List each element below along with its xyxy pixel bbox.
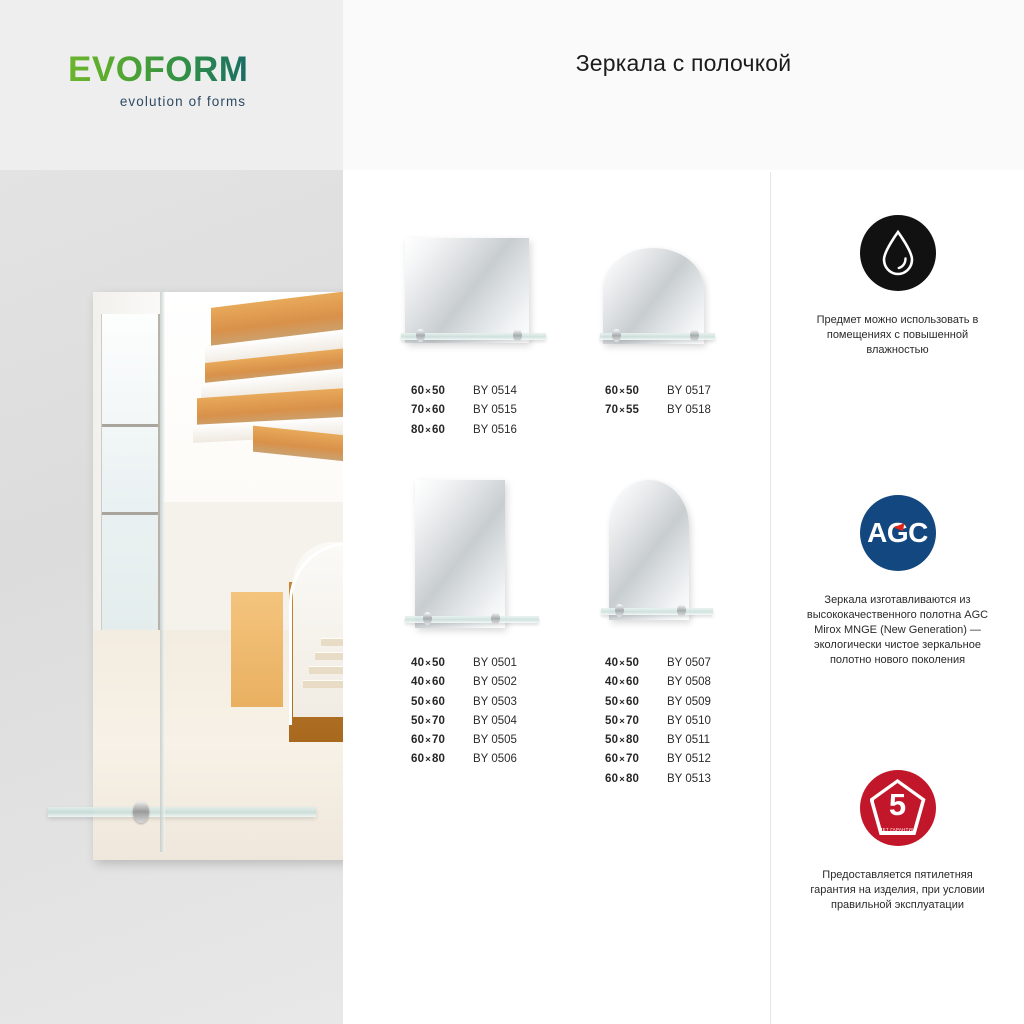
spec-row: 60×80 BY 0506 <box>411 750 517 769</box>
spec-code: BY 0510 <box>667 712 711 731</box>
shelf-bracket <box>491 612 500 625</box>
spec-size: 80×60 <box>411 421 473 440</box>
info-text-humidity: Предмет можно использовать в помещениях … <box>771 313 1024 358</box>
page-title: Зеркала с полочкой <box>343 0 1024 170</box>
spec-size: 60×50 <box>605 382 667 401</box>
spec-row: 50×70 BY 0510 <box>605 712 711 731</box>
spec-code: BY 0515 <box>473 401 517 420</box>
spec-size: 40×50 <box>411 654 473 673</box>
spec-code: BY 0509 <box>667 693 711 712</box>
brand-logo-wordmark: EVOFORM <box>68 52 298 87</box>
spec-size: 40×60 <box>605 673 667 692</box>
shelf-bracket <box>513 329 522 342</box>
spec-row: 50×60 BY 0509 <box>605 693 711 712</box>
product-mirror-arch-tall[interactable] <box>601 480 719 630</box>
spec-code: BY 0505 <box>473 731 517 750</box>
spec-row: 70×60 BY 0515 <box>411 401 517 420</box>
spec-row: 40×50 BY 0501 <box>411 654 517 673</box>
photo-window-mullion <box>102 424 158 427</box>
spec-row: 70×55 BY 0518 <box>605 401 711 420</box>
spec-code: BY 0508 <box>667 673 711 692</box>
product-mirror-rect-tall[interactable] <box>405 480 545 640</box>
spec-code: BY 0514 <box>473 382 517 401</box>
mirror-illustration <box>405 238 529 343</box>
info-block-humidity: Предмет можно использовать в помещениях … <box>771 215 1024 358</box>
spec-row: 80×60 BY 0516 <box>411 421 517 440</box>
product-mirror-rect-wide[interactable] <box>401 238 546 363</box>
agc-logo-text: AGC <box>867 517 928 549</box>
catalog-page: EVOFORM evolution of forms Зеркала с пол… <box>0 0 1024 1024</box>
spec-size: 50×80 <box>605 731 667 750</box>
spec-row: 60×50 BY 0514 <box>411 382 517 401</box>
spec-code: BY 0511 <box>667 731 710 750</box>
spec-size: 60×50 <box>411 382 473 401</box>
page-header: EVOFORM evolution of forms Зеркала с пол… <box>0 0 1024 170</box>
product-mirror-arch-wide[interactable] <box>600 248 715 363</box>
shelf-bracket <box>690 329 699 342</box>
spec-code: BY 0502 <box>473 673 517 692</box>
mirror-illustration <box>609 480 689 620</box>
spec-size: 50×60 <box>605 693 667 712</box>
spec-size: 60×80 <box>605 770 667 789</box>
shelf-bracket <box>416 329 425 342</box>
spec-row: 40×60 BY 0502 <box>411 673 517 692</box>
spec-row: 60×80 BY 0513 <box>605 770 711 789</box>
spec-size: 40×60 <box>411 673 473 692</box>
spec-code: BY 0518 <box>667 401 711 420</box>
spec-code: BY 0501 <box>473 654 517 673</box>
spec-row: 60×70 BY 0505 <box>411 731 517 750</box>
spec-size: 60×70 <box>411 731 473 750</box>
info-text-warranty: Предоставляется пятилетняя гарантия на и… <box>771 868 1024 913</box>
spec-table-arch-tall: 40×50 BY 0507 40×60 BY 0508 50×60 BY 050… <box>605 654 711 789</box>
agc-logo: AGC <box>860 495 936 571</box>
shelf-bracket <box>677 604 686 617</box>
mirror-illustration <box>415 480 505 628</box>
photo-window-mullion <box>102 512 158 515</box>
photo-shelf-bracket <box>133 801 149 823</box>
spec-code: BY 0507 <box>667 654 711 673</box>
spec-size: 60×80 <box>411 750 473 769</box>
warranty-badge-subtext: ЛЕТ ГАРАНТИИ <box>860 827 936 832</box>
photo-stair-railing <box>289 542 343 725</box>
info-block-agc: AGC Зеркала изготавливаются из высококач… <box>771 495 1024 668</box>
spec-table-rect-tall: 40×50 BY 0501 40×60 BY 0502 50×60 BY 050… <box>411 654 517 770</box>
spec-size: 70×60 <box>411 401 473 420</box>
warranty-number: 5 <box>889 789 906 820</box>
spec-row: 40×60 BY 0508 <box>605 673 711 692</box>
spec-code: BY 0503 <box>473 693 517 712</box>
spec-size: 50×70 <box>411 712 473 731</box>
info-text-agc: Зеркала изготавливаются из высококачеств… <box>771 593 1024 668</box>
brand-logo: EVOFORM evolution of forms <box>68 52 298 109</box>
spec-row: 60×50 BY 0517 <box>605 382 711 401</box>
product-grid: 60×50 BY 0514 70×60 BY 0515 80×60 BY 051… <box>343 170 770 1024</box>
spec-size: 70×55 <box>605 401 667 420</box>
spec-row: 60×70 BY 0512 <box>605 750 711 769</box>
spec-size: 50×70 <box>605 712 667 731</box>
shelf-bracket <box>615 604 624 617</box>
spec-row: 50×70 BY 0504 <box>411 712 517 731</box>
spec-code: BY 0512 <box>667 750 711 769</box>
lifestyle-photo <box>0 170 343 1024</box>
spec-code: BY 0516 <box>473 421 517 440</box>
spec-code: BY 0504 <box>473 712 517 731</box>
spec-table-arch-wide: 60×50 BY 0517 70×55 BY 0518 <box>605 382 711 421</box>
spec-row: 50×60 BY 0503 <box>411 693 517 712</box>
photo-door-edge <box>160 292 165 852</box>
spec-row: 40×50 BY 0507 <box>605 654 711 673</box>
photo-cabinet <box>231 592 283 707</box>
water-drop-icon <box>860 215 936 291</box>
spec-code: BY 0513 <box>667 770 711 789</box>
shelf-bracket <box>612 329 621 342</box>
warranty-5-years-badge: 5 ЛЕТ ГАРАНТИИ <box>860 770 936 846</box>
info-block-warranty: 5 ЛЕТ ГАРАНТИИ Предоставляется пятилетня… <box>771 770 1024 913</box>
photo-glass-shelf <box>48 807 316 817</box>
brand-tagline: evolution of forms <box>68 94 298 109</box>
spec-size: 60×70 <box>605 750 667 769</box>
spec-table-rect-wide: 60×50 BY 0514 70×60 BY 0515 80×60 BY 051… <box>411 382 517 440</box>
info-sidebar: Предмет можно использовать в помещениях … <box>771 170 1024 1024</box>
shelf-bracket <box>423 612 432 625</box>
spec-row: 50×80 BY 0511 <box>605 731 711 750</box>
photo-mirror-reflection <box>93 292 343 860</box>
logo-panel: EVOFORM evolution of forms <box>0 0 343 170</box>
spec-code: BY 0506 <box>473 750 517 769</box>
spec-size: 40×50 <box>605 654 667 673</box>
spec-size: 50×60 <box>411 693 473 712</box>
spec-code: BY 0517 <box>667 382 711 401</box>
